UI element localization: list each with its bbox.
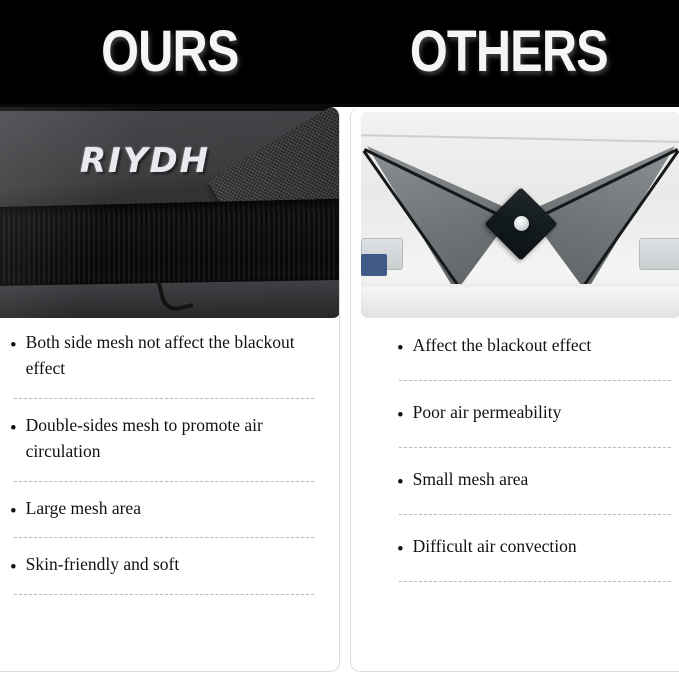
bullet-icon: •: [397, 333, 404, 358]
feature-text: Poor air permeability: [413, 400, 562, 426]
ours-card: RIYDH • Both side mesh not affect the bl…: [0, 107, 340, 672]
list-divider: [399, 447, 671, 448]
list-item: • Large mesh area: [2, 490, 320, 530]
bullet-icon: •: [10, 413, 17, 438]
bullet-icon: •: [10, 330, 17, 355]
list-divider: [14, 537, 314, 538]
others-card: • Affect the blackout effect • Poor air …: [350, 107, 679, 672]
list-divider: [14, 594, 314, 595]
header-half-ours: OURS: [0, 0, 340, 104]
others-product-photo: [361, 112, 679, 318]
feature-text: Affect the blackout effect: [413, 333, 592, 359]
tent-ceiling-fold-icon: [361, 134, 679, 144]
comparison-header: OURS OTHERS: [0, 0, 679, 104]
bullet-icon: •: [397, 534, 404, 559]
feature-text: Difficult air convection: [413, 534, 577, 560]
list-item: • Small mesh area: [391, 458, 679, 504]
blue-trim-icon: [361, 254, 387, 276]
right-vent-icon: [639, 238, 679, 270]
list-item: • Affect the blackout effect: [391, 324, 679, 370]
bullet-icon: •: [397, 467, 404, 492]
feature-text: Large mesh area: [26, 496, 141, 522]
others-column-title: OTHERS: [410, 23, 608, 81]
list-divider: [14, 398, 314, 399]
bullet-icon: •: [397, 400, 404, 425]
list-item: • Double-sides mesh to promote air circu…: [2, 407, 320, 473]
list-item: • Poor air permeability: [391, 391, 679, 437]
feature-text: Double-sides mesh to promote air circula…: [26, 413, 320, 465]
feature-text: Both side mesh not affect the blackout e…: [26, 330, 320, 382]
hub-button-icon: [514, 216, 529, 231]
bullet-icon: •: [10, 552, 17, 577]
comparison-columns: RIYDH • Both side mesh not affect the bl…: [0, 107, 679, 674]
brand-logo: RIYDH: [80, 141, 210, 181]
ours-column-title: OURS: [101, 23, 238, 81]
feature-text: Skin-friendly and soft: [26, 552, 180, 578]
list-divider: [399, 514, 671, 515]
list-item: • Skin-friendly and soft: [2, 546, 320, 586]
tent-floor-icon: [361, 284, 679, 318]
feature-text: Small mesh area: [413, 467, 529, 493]
list-item: • Difficult air convection: [391, 525, 679, 571]
list-divider: [14, 481, 314, 482]
list-divider: [399, 581, 671, 582]
bullet-icon: •: [10, 496, 17, 521]
ours-feature-list: • Both side mesh not affect the blackout…: [2, 324, 320, 603]
list-item: • Both side mesh not affect the blackout…: [2, 324, 320, 390]
ours-product-photo: RIYDH: [0, 107, 340, 318]
tent-top-seam-icon: [0, 107, 340, 111]
header-half-others: OTHERS: [340, 0, 679, 104]
list-divider: [399, 380, 671, 381]
others-feature-list: • Affect the blackout effect • Poor air …: [391, 324, 679, 592]
